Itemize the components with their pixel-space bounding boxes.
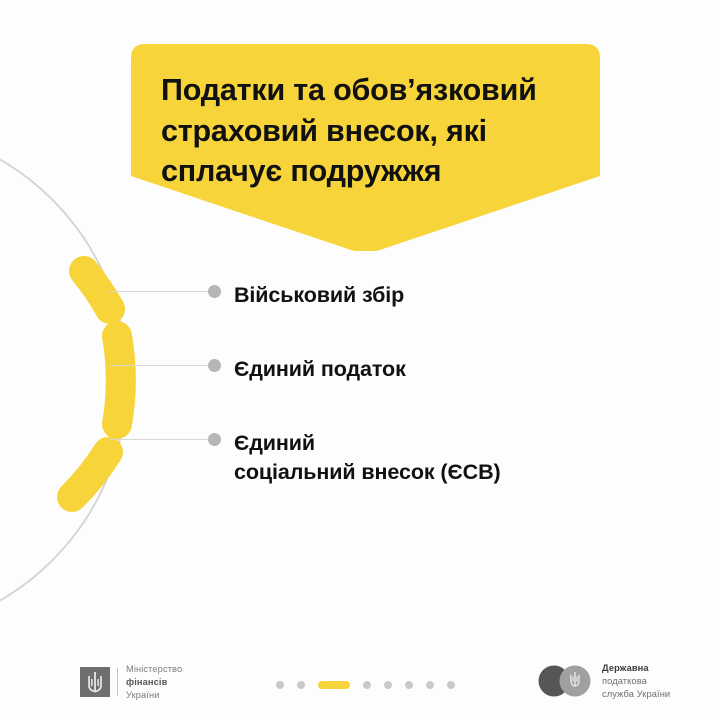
logo-divider — [117, 668, 118, 696]
list-item-label: Єдиний податок — [234, 355, 406, 384]
leader-line — [110, 439, 210, 440]
bullet-dot-icon — [208, 433, 221, 446]
list-item[interactable]: Єдиний податок — [110, 355, 406, 384]
trident-emblem-icon — [80, 667, 110, 697]
pagination-dot[interactable] — [447, 681, 455, 689]
bullet-dot-icon — [208, 359, 221, 372]
pagination-dot[interactable] — [405, 681, 413, 689]
ministry-of-finance-logo[interactable]: МіністерствофінансівУкраїни — [80, 663, 182, 701]
ministry-line-2: фінансів — [126, 677, 167, 687]
pagination-dot[interactable] — [363, 681, 371, 689]
list-item-label: Єдиний соціальний внесок (ЄСВ) — [234, 429, 501, 487]
tax-service-wordmark: Державнаподатковаслужба України — [602, 662, 670, 700]
pagination-dot[interactable] — [384, 681, 392, 689]
ministry-line-1: Міністерство — [126, 664, 182, 674]
leader-line — [110, 365, 210, 366]
tax-line-3: служба України — [602, 689, 670, 699]
trident-circle-icon — [538, 665, 596, 697]
bullet-list: Військовий збір Єдиний податок Єдиний со… — [0, 0, 720, 720]
ministry-line-3: України — [126, 690, 160, 700]
pagination-dot[interactable] — [297, 681, 305, 689]
ministry-wordmark: МіністерствофінансівУкраїни — [126, 663, 182, 701]
tax-line-1: Державна — [602, 663, 649, 673]
pagination-dot[interactable] — [276, 681, 284, 689]
leader-line — [110, 291, 210, 292]
slide-canvas: Податки та обов’язковий страховий внесок… — [0, 0, 720, 720]
tax-line-2: податкова — [602, 676, 647, 686]
pagination-dot-active[interactable] — [318, 681, 350, 689]
bullet-dot-icon — [208, 285, 221, 298]
list-item-label: Військовий збір — [234, 281, 404, 310]
pagination-dot[interactable] — [426, 681, 434, 689]
pagination-indicator[interactable] — [276, 678, 455, 692]
list-item[interactable]: Військовий збір — [110, 281, 404, 310]
list-item[interactable]: Єдиний соціальний внесок (ЄСВ) — [110, 429, 501, 487]
tax-service-logo[interactable]: Державнаподатковаслужба України — [538, 662, 670, 700]
